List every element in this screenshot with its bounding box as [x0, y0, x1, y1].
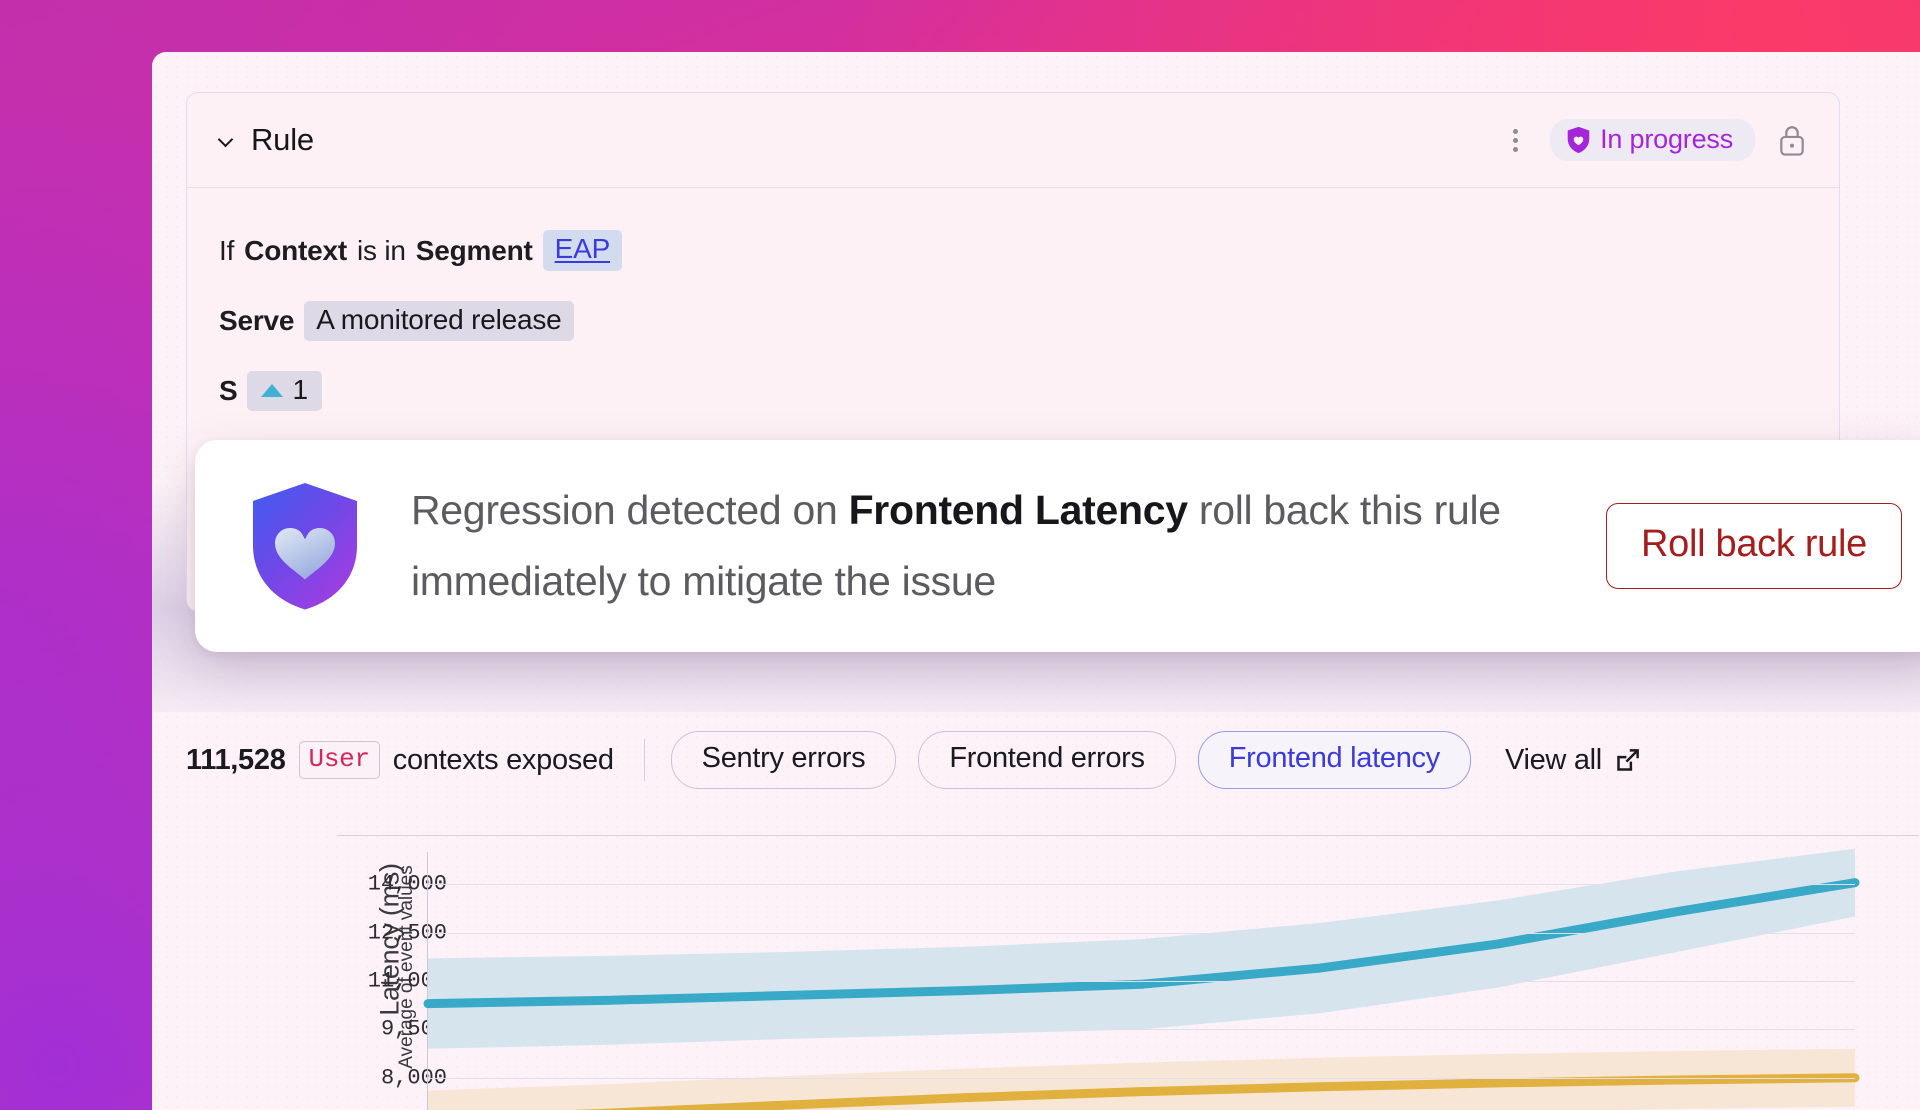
chip-frontend-latency[interactable]: Frontend latency	[1198, 731, 1471, 789]
serve-label: Serve	[219, 305, 294, 337]
lock-icon[interactable]	[1777, 123, 1807, 157]
plot-area	[427, 852, 1855, 1110]
metrics-divider	[337, 835, 1919, 836]
app-panel: Rule In progress	[152, 52, 1920, 1110]
contexts-exposed: 111,528 User contexts exposed	[186, 741, 614, 779]
chip-frontend-errors[interactable]: Frontend errors	[918, 731, 1175, 789]
partial-row-value[interactable]: 1	[247, 371, 321, 411]
status-badge-label: In progress	[1600, 124, 1733, 155]
condition-prefix: If	[219, 235, 234, 267]
context-kind-token: User	[299, 741, 380, 779]
confidence-band	[428, 849, 1855, 1049]
toast-message-part1: Regression detected on	[411, 487, 849, 533]
metrics-row: 111,528 User contexts exposed Sentry err…	[186, 724, 1880, 796]
gridline	[428, 1029, 1855, 1030]
exposed-suffix: contexts exposed	[393, 744, 614, 777]
status-badge[interactable]: In progress	[1550, 119, 1755, 161]
rule-serve-row: Serve A monitored release	[219, 301, 1809, 341]
page-title: Rule	[251, 122, 314, 158]
view-all-link[interactable]: View all	[1505, 744, 1641, 777]
regression-toast: Regression detected on Frontend Latency …	[195, 440, 1920, 652]
shield-heart-icon	[247, 480, 363, 612]
shield-heart-icon	[1566, 126, 1591, 154]
vertical-divider	[644, 739, 645, 781]
partial-row-number: 1	[292, 374, 307, 406]
rule-partial-row: S 1	[219, 371, 1809, 411]
rule-card-header: Rule In progress	[187, 93, 1839, 188]
segment-link[interactable]: EAP	[543, 230, 622, 271]
serve-value[interactable]: A monitored release	[304, 301, 573, 341]
more-vertical-icon[interactable]	[1498, 123, 1532, 157]
roll-back-rule-button[interactable]: Roll back rule	[1606, 503, 1902, 589]
external-link-icon	[1614, 747, 1641, 774]
gridline	[428, 1078, 1855, 1079]
gridline	[428, 981, 1855, 982]
chevron-down-icon[interactable]	[217, 129, 239, 151]
gridline	[428, 933, 1855, 934]
latency-chart: Latency (ms) Average of event values 14,…	[337, 852, 1920, 1110]
rule-card-body: If Context is in Segment EAP Serve A mon…	[187, 188, 1839, 411]
toast-message-highlight: Frontend Latency	[849, 487, 1188, 533]
exposed-count: 111,528	[186, 744, 286, 777]
rule-condition-row: If Context is in Segment EAP	[219, 230, 1809, 271]
condition-attribute: Segment	[416, 235, 533, 267]
triangle-up-icon	[261, 384, 283, 397]
condition-operator: is in	[357, 235, 406, 267]
rule-card-header-actions: In progress	[1498, 119, 1807, 161]
partial-row-label: S	[219, 375, 237, 407]
chip-sentry-errors[interactable]: Sentry errors	[671, 731, 897, 789]
condition-subject: Context	[244, 235, 347, 267]
view-all-label: View all	[1505, 744, 1602, 777]
toast-message: Regression detected on Frontend Latency …	[411, 475, 1572, 618]
gridline	[428, 884, 1855, 885]
